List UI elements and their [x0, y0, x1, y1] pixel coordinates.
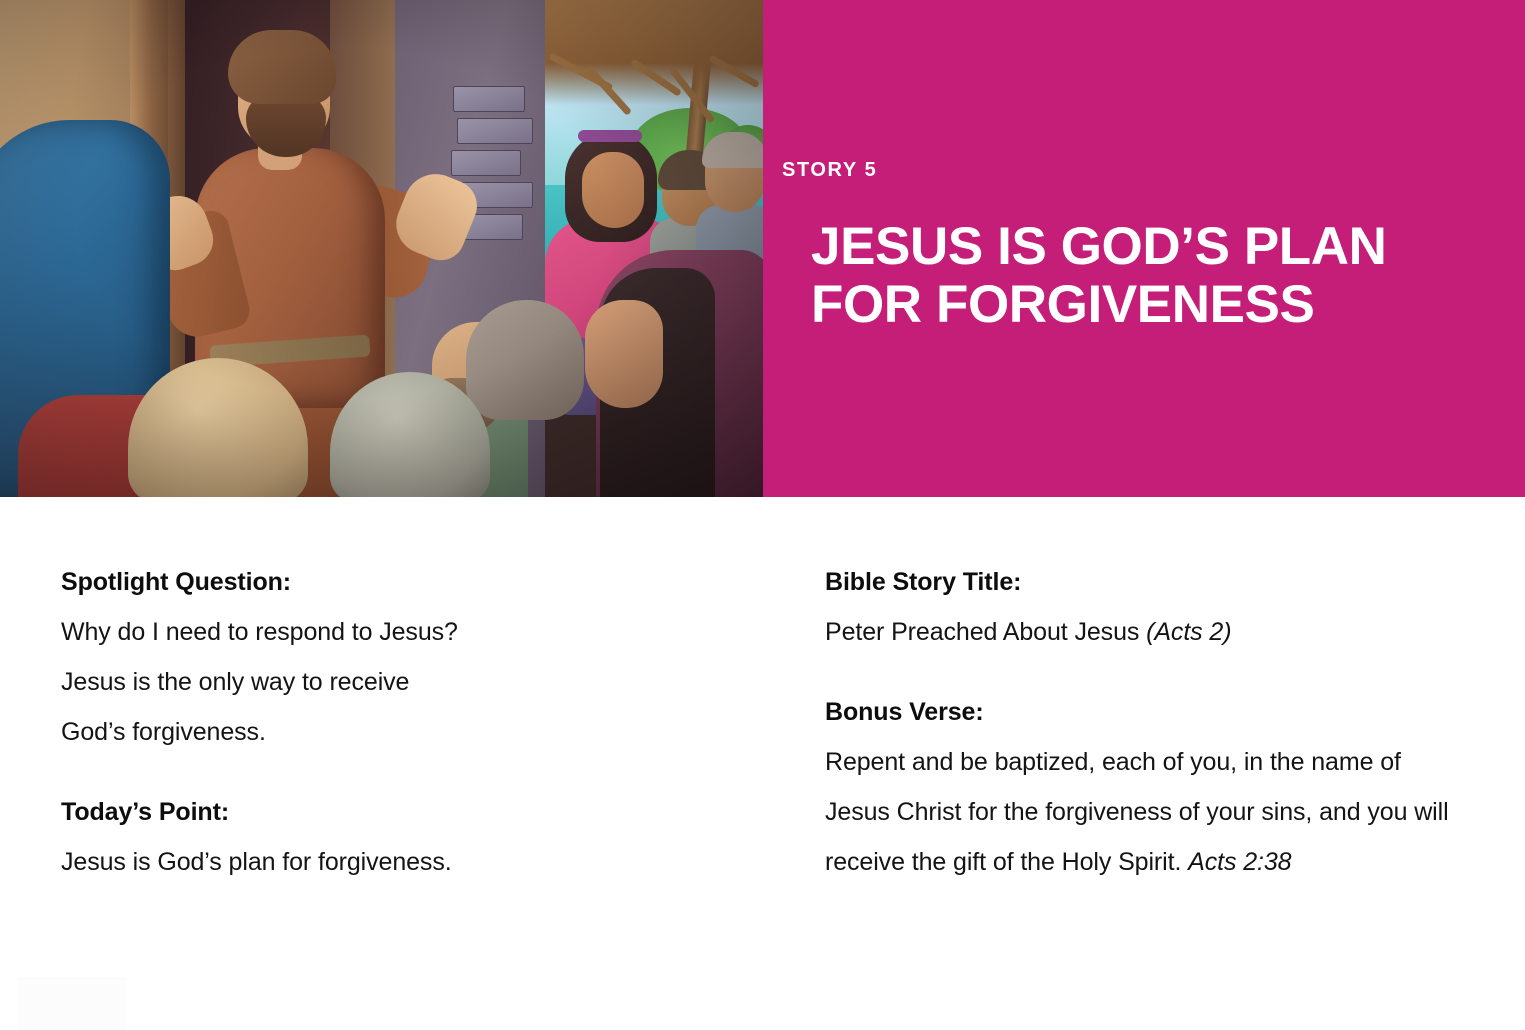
story-number-label: STORY 5 — [782, 159, 877, 182]
bonus-verse-block: Bonus Verse: Repent and be baptized, eac… — [825, 695, 1450, 887]
spotlight-question-text: Why do I need to respond to Jesus? Jesus… — [61, 607, 761, 757]
left-column: Spotlight Question: Why do I need to res… — [61, 497, 761, 887]
bonus-verse-reference: Acts 2:38 — [1188, 848, 1291, 876]
peter-preaching-illustration — [0, 0, 763, 497]
bible-story-title-text: Peter Preached About Jesus (Acts 2) — [825, 607, 1450, 657]
lesson-slide: STORY 5 JESUS IS GOD’S PLAN FOR FORGIVEN… — [0, 0, 1525, 1030]
frond — [708, 54, 760, 88]
brick — [453, 86, 525, 112]
bonus-verse-label: Bonus Verse: — [825, 695, 1450, 729]
body-content: Spotlight Question: Why do I need to res… — [0, 497, 1525, 1030]
todays-point-block: Today’s Point: Jesus is God’s plan for f… — [61, 795, 761, 887]
bonus-verse-body: Repent and be baptized, each of you, in … — [825, 748, 1449, 876]
spotlight-question-label: Spotlight Question: — [61, 565, 761, 599]
woman-face-foreground — [585, 300, 663, 408]
spotlight-question-block: Spotlight Question: Why do I need to res… — [61, 565, 761, 757]
seated-woman-headband — [578, 130, 642, 142]
peter-hair — [228, 30, 336, 104]
story-title: JESUS IS GOD’S PLAN FOR FORGIVENESS — [811, 218, 1491, 334]
spotlight-line-3: God’s forgiveness. — [61, 707, 761, 757]
bible-story-title-reference: (Acts 2) — [1146, 618, 1231, 646]
brick — [457, 118, 533, 144]
title-panel: STORY 5 JESUS IS GOD’S PLAN FOR FORGIVEN… — [763, 0, 1525, 497]
todays-point-line-1: Jesus is God’s plan for forgiveness. — [61, 837, 761, 887]
right-column: Bible Story Title: Peter Preached About … — [825, 497, 1450, 887]
bonus-verse-text: Repent and be baptized, each of you, in … — [825, 737, 1450, 887]
todays-point-label: Today’s Point: — [61, 795, 761, 829]
bible-story-title-block: Bible Story Title: Peter Preached About … — [825, 565, 1450, 657]
seated-woman-face — [582, 152, 644, 228]
footer-placeholder-block — [18, 977, 126, 1030]
spotlight-line-1: Why do I need to respond to Jesus? — [61, 607, 761, 657]
todays-point-text: Jesus is God’s plan for forgiveness. — [61, 837, 761, 887]
thatch-canopy — [540, 0, 763, 105]
bible-story-title-label: Bible Story Title: — [825, 565, 1450, 599]
listener-hair — [466, 300, 584, 420]
brick — [451, 150, 521, 176]
bible-story-title-main: Peter Preached About Jesus — [825, 618, 1146, 646]
spotlight-line-2: Jesus is the only way to receive — [61, 657, 761, 707]
banner: STORY 5 JESUS IS GOD’S PLAN FOR FORGIVEN… — [0, 0, 1525, 497]
